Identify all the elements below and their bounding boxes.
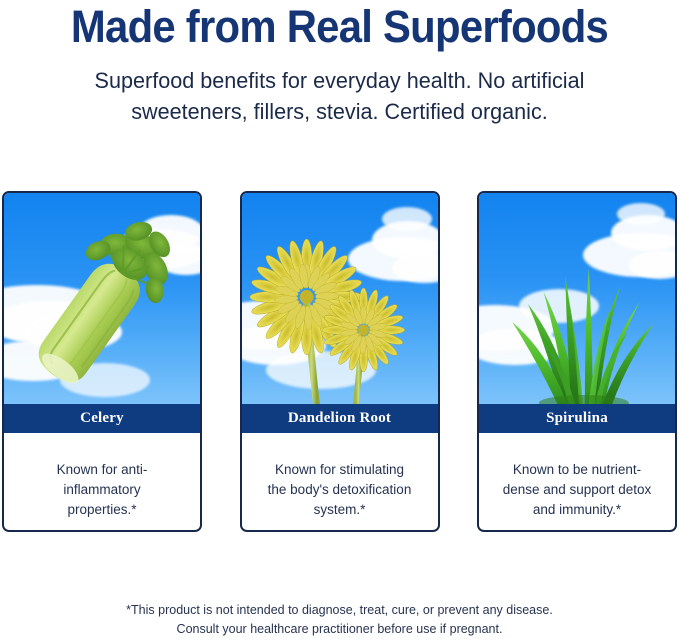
card-body-celery: Known for anti- inflammatory properties.… [4,433,200,530]
superfood-card-list: Celery Known for anti- inflammatory prop… [2,191,677,532]
card-description-celery: Known for anti- inflammatory properties.… [57,460,148,520]
card-body-spirulina: Known to be nutrient- dense and support … [479,433,675,530]
card-title-celery: Celery [4,404,200,433]
page-subtitle: Superfood benefits for everyday health. … [14,52,666,127]
card-description-dandelion-root: Known for stimulating the body's detoxif… [268,460,412,520]
card-body-dandelion-root: Known for stimulating the body's detoxif… [242,433,438,530]
disclaimer-text: *This product is not intended to diagnos… [0,601,679,639]
footer-disclaimer: *This product is not intended to diagnos… [0,601,679,639]
spirulina-illustration [479,193,675,404]
celery-photo [4,193,200,404]
celery-illustration [4,193,200,404]
card-title-spirulina: Spirulina [479,404,675,433]
dandelion-illustration [242,193,438,404]
superfood-card-dandelion-root[interactable]: Dandelion Root Known for stimulating the… [240,191,440,532]
dandelion-photo [242,193,438,404]
superfood-card-celery[interactable]: Celery Known for anti- inflammatory prop… [2,191,202,532]
spirulina-photo [479,193,675,404]
superfood-card-spirulina[interactable]: Spirulina Known to be nutrient- dense an… [477,191,677,532]
page-title: Made from Real Superfoods [24,0,655,52]
header: Made from Real Superfoods Superfood bene… [0,0,679,127]
card-description-spirulina: Known to be nutrient- dense and support … [503,460,652,520]
card-title-dandelion-root: Dandelion Root [242,404,438,433]
